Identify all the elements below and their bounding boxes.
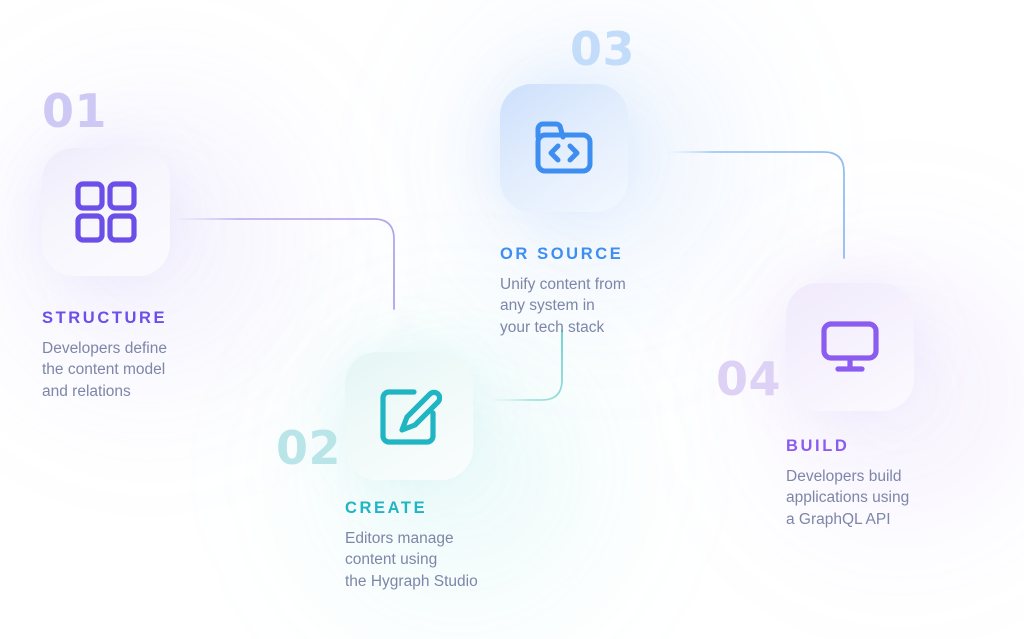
step-02-line-3: the Hygraph Studio [345, 571, 478, 593]
edit-pencil-square-icon [376, 383, 442, 449]
step-01-line-3: and relations [42, 381, 167, 403]
step-02-number: 02 [276, 425, 341, 471]
step-04-line-1: Developers build [786, 466, 909, 488]
step-02-icon-tile [345, 352, 473, 480]
grid-squares-icon [73, 179, 139, 245]
step-01-icon-tile [42, 148, 170, 276]
step-04-caption: BUILD Developers build applications usin… [786, 438, 909, 530]
step-02-line-2: content using [345, 549, 478, 571]
step-04-title: BUILD [786, 438, 909, 455]
step-02-title: CREATE [345, 500, 478, 517]
step-04-icon-tile [786, 283, 914, 411]
step-04-number: 04 [716, 356, 781, 402]
monitor-icon [817, 314, 883, 380]
step-01-title: STRUCTURE [42, 310, 167, 327]
step-01-number: 01 [42, 88, 107, 134]
connector-03-to-04 [666, 152, 844, 258]
step-03-line-2: any system in [500, 295, 626, 317]
step-03-line-1: Unify content from [500, 274, 626, 296]
connector-01-to-02 [172, 219, 394, 309]
step-02-line-1: Editors manage [345, 528, 478, 550]
step-01-caption: STRUCTURE Developers define the content … [42, 310, 167, 402]
folder-code-icon [531, 115, 597, 181]
step-03-title: OR SOURCE [500, 246, 626, 263]
step-02-description: Editors manage content using the Hygraph… [345, 528, 478, 593]
step-01-line-2: the content model [42, 359, 167, 381]
infographic-canvas: 01 STRUCTURE Developers define the conte… [0, 0, 1024, 639]
connector-02-to-03 [468, 330, 562, 400]
step-03-description: Unify content from any system in your te… [500, 274, 626, 339]
step-03-icon-tile [500, 84, 628, 212]
step-02-caption: CREATE Editors manage content using the … [345, 500, 478, 592]
step-03-line-3: your tech stack [500, 317, 626, 339]
step-04-line-3: a GraphQL API [786, 509, 909, 531]
step-03-caption: OR SOURCE Unify content from any system … [500, 246, 626, 338]
step-04-description: Developers build applications using a Gr… [786, 466, 909, 531]
step-03-number: 03 [570, 26, 635, 72]
step-01-description: Developers define the content model and … [42, 338, 167, 403]
step-01-line-1: Developers define [42, 338, 167, 360]
step-04-line-2: applications using [786, 487, 909, 509]
